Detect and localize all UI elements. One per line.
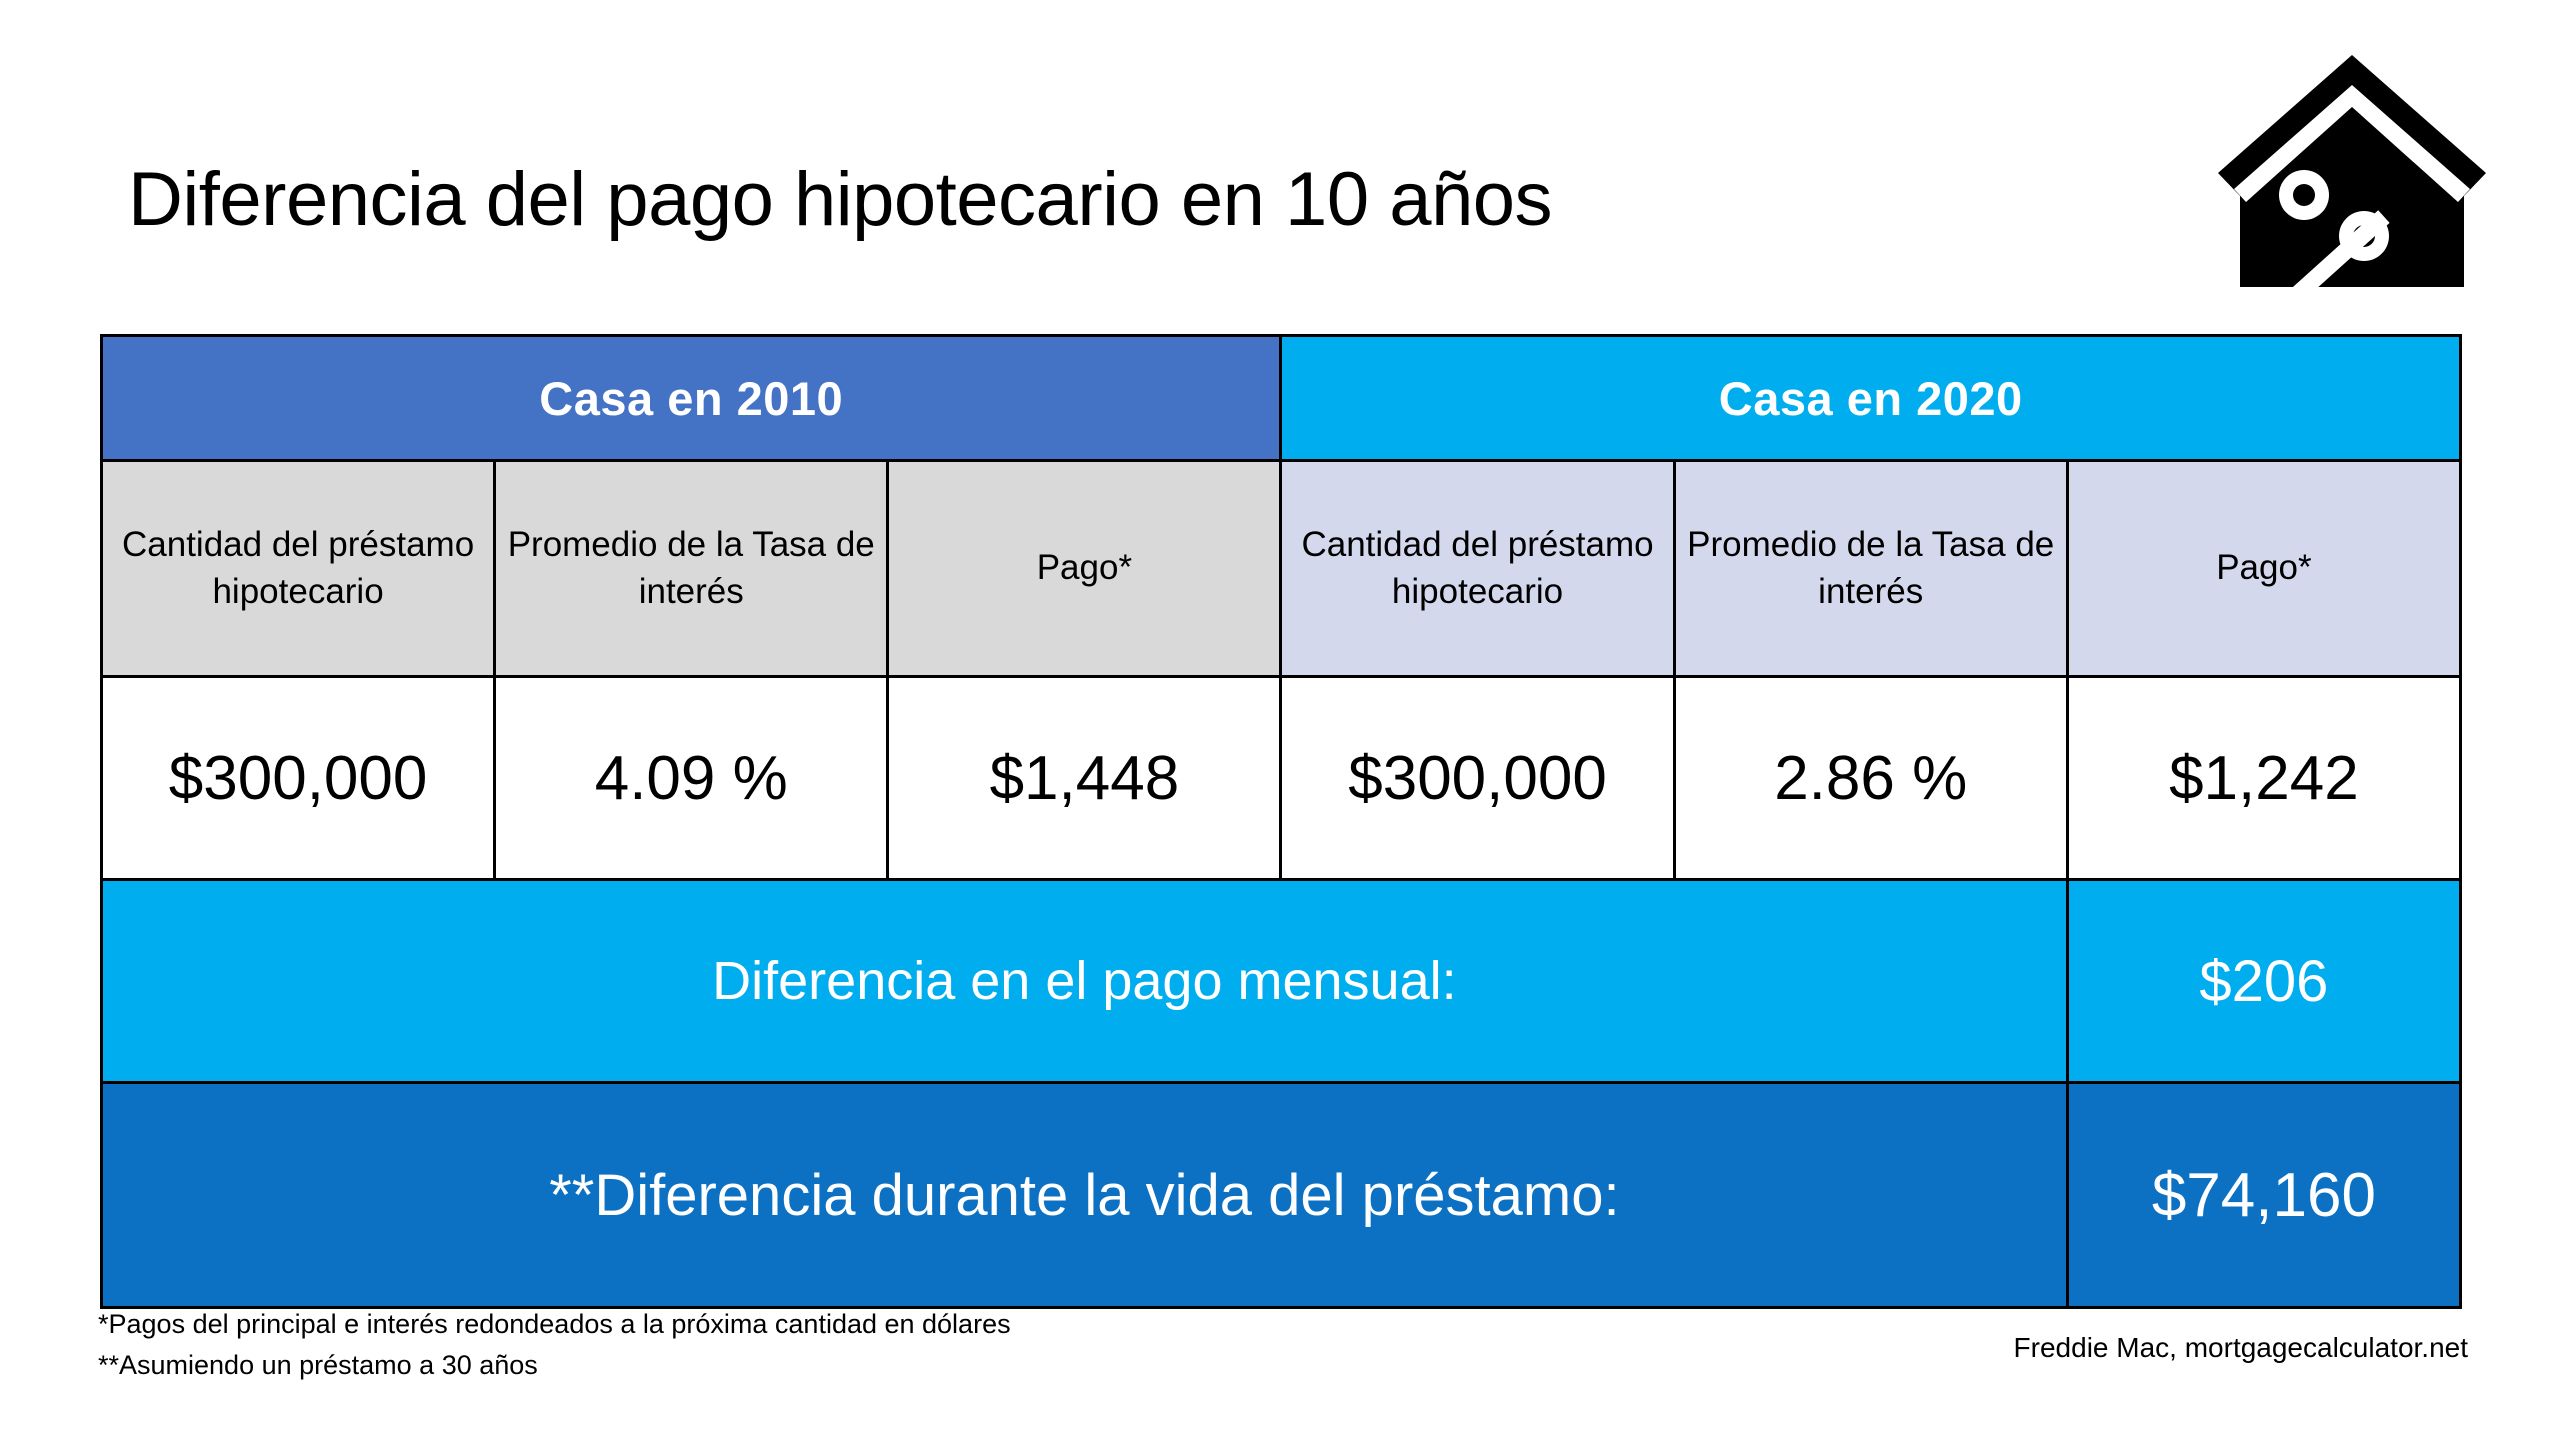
lifetime-difference-label: **Diferencia durante la vida del préstam… (102, 1083, 2068, 1308)
title-bar: Diferencia del pago hipotecario en 10 añ… (0, 0, 2560, 330)
cell-interest-rate-2020: 2.86 % (1674, 677, 2067, 880)
lifetime-difference-row: **Diferencia durante la vida del préstam… (102, 1083, 2461, 1308)
source-attribution: Freddie Mac, mortgagecalculator.net (2014, 1332, 2468, 1364)
house-percent-icon (2218, 55, 2486, 295)
column-header-payment-2010: Pago* (888, 461, 1281, 677)
comparison-table-wrapper: Casa en 2010 Casa en 2020 Cantidad del p… (100, 334, 2462, 1309)
footnote-payments: *Pagos del principal e interés redondead… (98, 1304, 1011, 1345)
footnotes: *Pagos del principal e interés redondead… (98, 1304, 1011, 1386)
lifetime-difference-amount: $74,160 (2067, 1083, 2460, 1308)
column-header-payment-2020: Pago* (2067, 461, 2460, 677)
column-header-interest-rate-2010: Promedio de la Tasa de interés (495, 461, 888, 677)
monthly-difference-amount: $206 (2067, 880, 2460, 1083)
cell-loan-amount-2020: $300,000 (1281, 677, 1674, 880)
page-title: Diferencia del pago hipotecario en 10 añ… (128, 162, 1552, 238)
group-header-2010: Casa en 2010 (102, 336, 1281, 461)
cell-payment-2020: $1,242 (2067, 677, 2460, 880)
footnote-loan-term: **Asumiendo un préstamo a 30 años (98, 1345, 1011, 1386)
column-header-loan-amount-2020: Cantidad del préstamo hipotecario (1281, 461, 1674, 677)
table-group-header-row: Casa en 2010 Casa en 2020 (102, 336, 2461, 461)
group-header-2020: Casa en 2020 (1281, 336, 2461, 461)
cell-loan-amount-2010: $300,000 (102, 677, 495, 880)
cell-payment-2010: $1,448 (888, 677, 1281, 880)
column-header-loan-amount-2010: Cantidad del préstamo hipotecario (102, 461, 495, 677)
table-column-header-row: Cantidad del préstamo hipotecario Promed… (102, 461, 2461, 677)
mortgage-comparison-table: Casa en 2010 Casa en 2020 Cantidad del p… (100, 334, 2462, 1309)
cell-interest-rate-2010: 4.09 % (495, 677, 888, 880)
table-row: $300,000 4.09 % $1,448 $300,000 2.86 % $… (102, 677, 2461, 880)
monthly-difference-label: Diferencia en el pago mensual: (102, 880, 2068, 1083)
monthly-difference-row: Diferencia en el pago mensual: $206 (102, 880, 2461, 1083)
column-header-interest-rate-2020: Promedio de la Tasa de interés (1674, 461, 2067, 677)
